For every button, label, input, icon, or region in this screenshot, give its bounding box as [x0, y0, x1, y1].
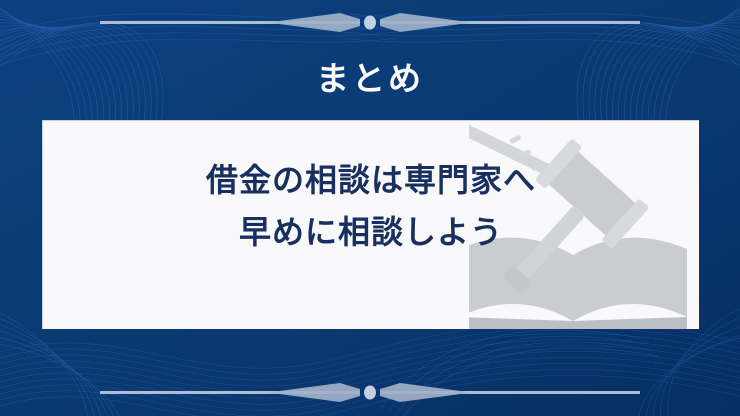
divider-bottom	[0, 380, 740, 406]
content-card: 借金の相談は専門家へ 早めに相談しよう	[42, 120, 699, 329]
card-message-line-1: 借金の相談は専門家へ	[43, 155, 699, 207]
card-message-line-2: 早めに相談しよう	[43, 207, 699, 259]
page-title: まとめ	[0, 61, 740, 97]
card-message: 借金の相談は専門家へ 早めに相談しよう	[43, 155, 699, 259]
divider-top	[0, 10, 740, 36]
slide: まとめ	[0, 0, 740, 416]
